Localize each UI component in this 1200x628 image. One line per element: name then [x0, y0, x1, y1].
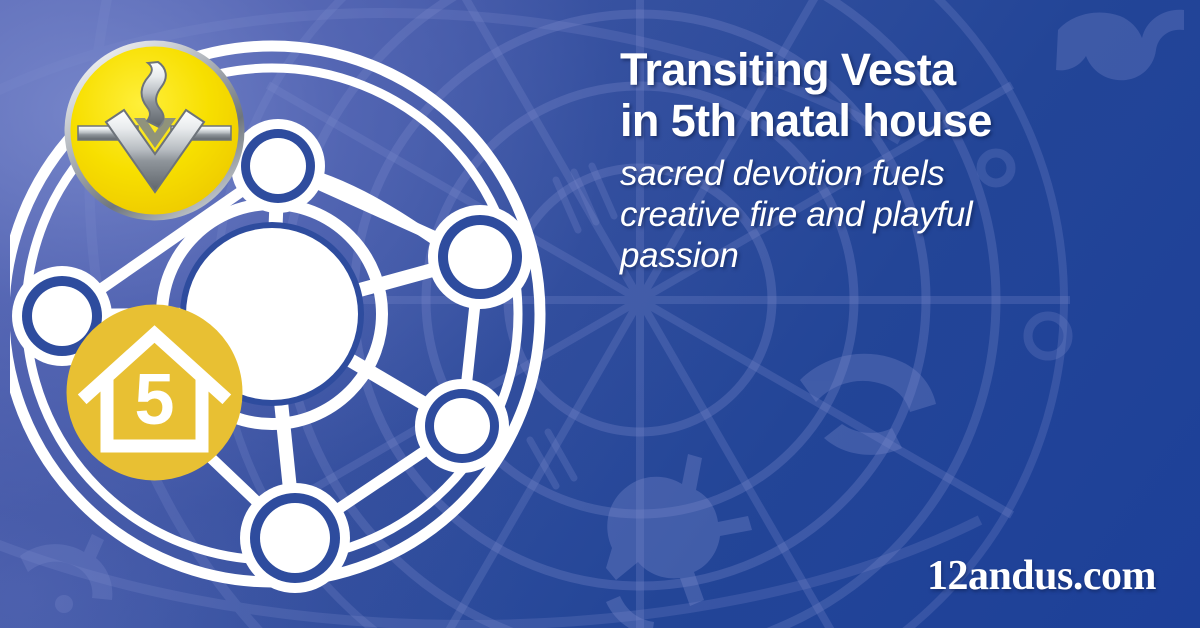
- house-badge: 5: [62, 300, 247, 485]
- social-card: 5 Transiting Vesta in 5th natal house sa…: [0, 0, 1200, 628]
- vesta-badge: [62, 38, 247, 223]
- headline-block: Transiting Vesta in 5th natal house sacr…: [620, 44, 1180, 276]
- site-url[interactable]: 12andus.com: [927, 552, 1156, 600]
- page-title: Transiting Vesta in 5th natal house: [620, 44, 1180, 147]
- page-subtitle: sacred devotion fuels creative fire and …: [620, 153, 1180, 277]
- house-number: 5: [134, 360, 174, 440]
